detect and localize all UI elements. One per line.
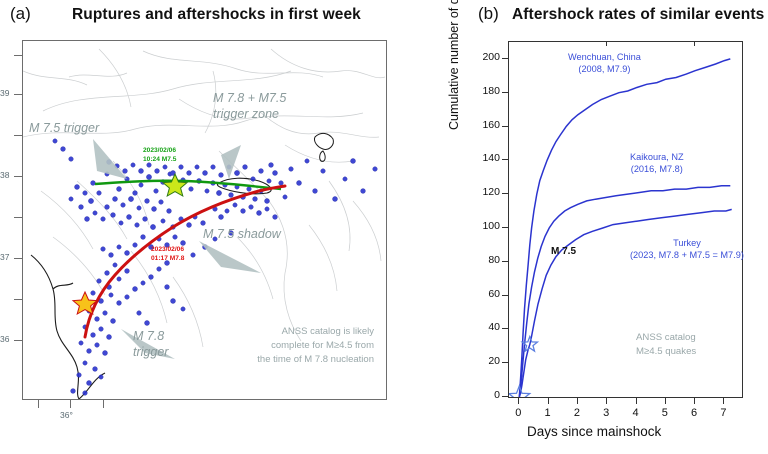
chart-xlabel-1: 1 [538, 407, 558, 419]
chart-ytick-80 [502, 261, 508, 262]
map-catalog-note-line2: complete for M≥4.5 from [257, 339, 374, 353]
chart-xtick-7 [723, 398, 724, 404]
chart-xtick-3 [606, 398, 607, 404]
chart-xtick-1 [548, 398, 549, 404]
annot-trigger-zone-line1: M 7.8 + M7.5 [213, 91, 286, 107]
annot-m75-shadow-line1: M 7.5 shadow [203, 227, 281, 243]
chart-xtick-6 [694, 398, 695, 404]
map-ytick-37: 37 [0, 252, 9, 262]
chart-ylabel-160: 160 [460, 119, 500, 131]
chart-catalog-note-line1: ANSS catalog [636, 331, 696, 345]
chart-y-axis-label: Cumulative number of quakes [447, 0, 461, 130]
m78-event-date: 2023/02/06 [151, 246, 184, 255]
series-label-turkey: Turkey (2023, M7.8 + M7.5 = M7.9) [630, 237, 744, 262]
chart-ytick-20 [502, 362, 508, 363]
chart-ylabel-120: 120 [460, 186, 500, 198]
m75-epicenter-marker [163, 174, 187, 196]
annot-m78-trigger-line2: trigger [133, 345, 168, 361]
map-panel: 2023/02/06 10:24 M7.5 2023/02/06 01:17 M… [22, 40, 387, 400]
annot-m75-trigger-line1: M 7.5 trigger [29, 121, 99, 137]
series-label-kaikoura-name: Kaikoura, NZ [630, 151, 684, 163]
chart-ytick-160 [502, 126, 508, 127]
chart-xlabel-4: 4 [626, 407, 646, 419]
map-catalog-note-line3: the time of M 7.8 nucleation [257, 353, 374, 367]
m75-event-date: 2023/02/06 [143, 147, 176, 156]
panel-a-title: Ruptures and aftershocks in first week [72, 6, 361, 24]
chart-ylabel-60: 60 [460, 288, 500, 300]
panel-a-letter: (a) [10, 4, 31, 24]
series-label-kaikoura-sub: (2016, M7.8) [630, 163, 684, 175]
m78-event-time-mag: 01:17 M7.8 [151, 255, 184, 264]
panel-b-letter: (b) [478, 4, 499, 24]
chart-xtick-5 [665, 398, 666, 404]
chart-ylabel-0: 0 [460, 389, 500, 401]
chart-xlabel-0: 0 [508, 407, 528, 419]
chart-ylabel-100: 100 [460, 220, 500, 232]
m75-event-label: 2023/02/06 10:24 M7.5 [143, 147, 176, 165]
annot-trigger-zone: M 7.8 + M7.5 trigger zone [213, 91, 286, 122]
series-curve-wenchuan-china [519, 59, 730, 397]
chart-xtick-4 [636, 398, 637, 404]
map-ytick-36: 36 [0, 334, 9, 344]
map-ytick-38: 38 [0, 170, 9, 180]
chart-plot-frame [508, 41, 743, 398]
chart-ylabel-20: 20 [460, 355, 500, 367]
chart-xtick-top-3 [606, 41, 607, 46]
chart-xlabel-2: 2 [567, 407, 587, 419]
map-plot-frame: 2023/02/06 10:24 M7.5 2023/02/06 01:17 M… [22, 40, 387, 400]
chart-xtick-0 [518, 398, 519, 404]
chart-xlabel-7: 7 [713, 407, 733, 419]
chart-xlabel-6: 6 [684, 407, 704, 419]
map-catalog-note-line1: ANSS catalog is likely [257, 325, 374, 339]
map-xtick-36: 36° [60, 410, 73, 420]
arrow-m75-shadow [199, 241, 261, 273]
series-label-wenchuan-sub: (2008, M7.9) [568, 63, 641, 75]
annot-m75-trigger: M 7.5 trigger [29, 121, 99, 137]
chart-ytick-0 [502, 396, 508, 397]
chart-x-axis-label: Days since mainshock [527, 424, 661, 439]
map-catalog-note: ANSS catalog is likely complete for M≥4.… [257, 325, 374, 366]
chart-ylabel-40: 40 [460, 321, 500, 333]
chart-xlabel-3: 3 [596, 407, 616, 419]
chart-ylabel-180: 180 [460, 85, 500, 97]
m75-star-label: M 7.5 [551, 246, 576, 257]
chart-ylabel-140: 140 [460, 152, 500, 164]
series-curve-kaikoura-nz [519, 186, 730, 397]
chart-catalog-note-line2: M≥4.5 quakes [636, 345, 696, 359]
annot-trigger-zone-line2: trigger zone [213, 107, 286, 123]
chart-ytick-140 [502, 159, 508, 160]
chart-ytick-180 [502, 92, 508, 93]
series-label-kaikoura: Kaikoura, NZ (2016, M7.8) [630, 151, 684, 176]
chart-ytick-120 [502, 193, 508, 194]
chart-ytick-100 [502, 227, 508, 228]
series-label-wenchuan-name: Wenchuan, China [568, 51, 641, 63]
series-label-turkey-sub: (2023, M7.8 + M7.5 = M7.9) [630, 249, 744, 261]
chart-xtick-top-6 [694, 41, 695, 46]
chart-curves [509, 42, 742, 397]
chart-ylabel-80: 80 [460, 254, 500, 266]
chart-xlabel-5: 5 [655, 407, 675, 419]
chart-ylabel-200: 200 [460, 51, 500, 63]
m78-rupture-trace [85, 186, 285, 337]
annot-m78-trigger: M 7.8 trigger [133, 329, 168, 360]
chart-panel: Wenchuan, China (2008, M7.9) Kaikoura, N… [508, 41, 743, 398]
map-ytick-39: 39 [0, 88, 9, 98]
m78-event-label: 2023/02/06 01:17 M7.8 [151, 246, 184, 264]
annot-m75-shadow: M 7.5 shadow [203, 227, 281, 243]
series-label-turkey-name: Turkey [630, 237, 744, 249]
chart-catalog-note: ANSS catalog M≥4.5 quakes [636, 331, 696, 359]
arrow-m75-trigger [93, 139, 127, 179]
chart-ytick-60 [502, 295, 508, 296]
series-label-wenchuan: Wenchuan, China (2008, M7.9) [568, 51, 641, 76]
panel-b-title: Aftershock rates of similar events [512, 6, 764, 24]
annot-m78-trigger-line1: M 7.8 [133, 329, 168, 345]
chart-ytick-200 [502, 58, 508, 59]
m75-event-time-mag: 10:24 M7.5 [143, 156, 176, 165]
m75-rupture-trace [95, 181, 281, 189]
chart-xtick-2 [577, 398, 578, 404]
chart-ytick-40 [502, 328, 508, 329]
